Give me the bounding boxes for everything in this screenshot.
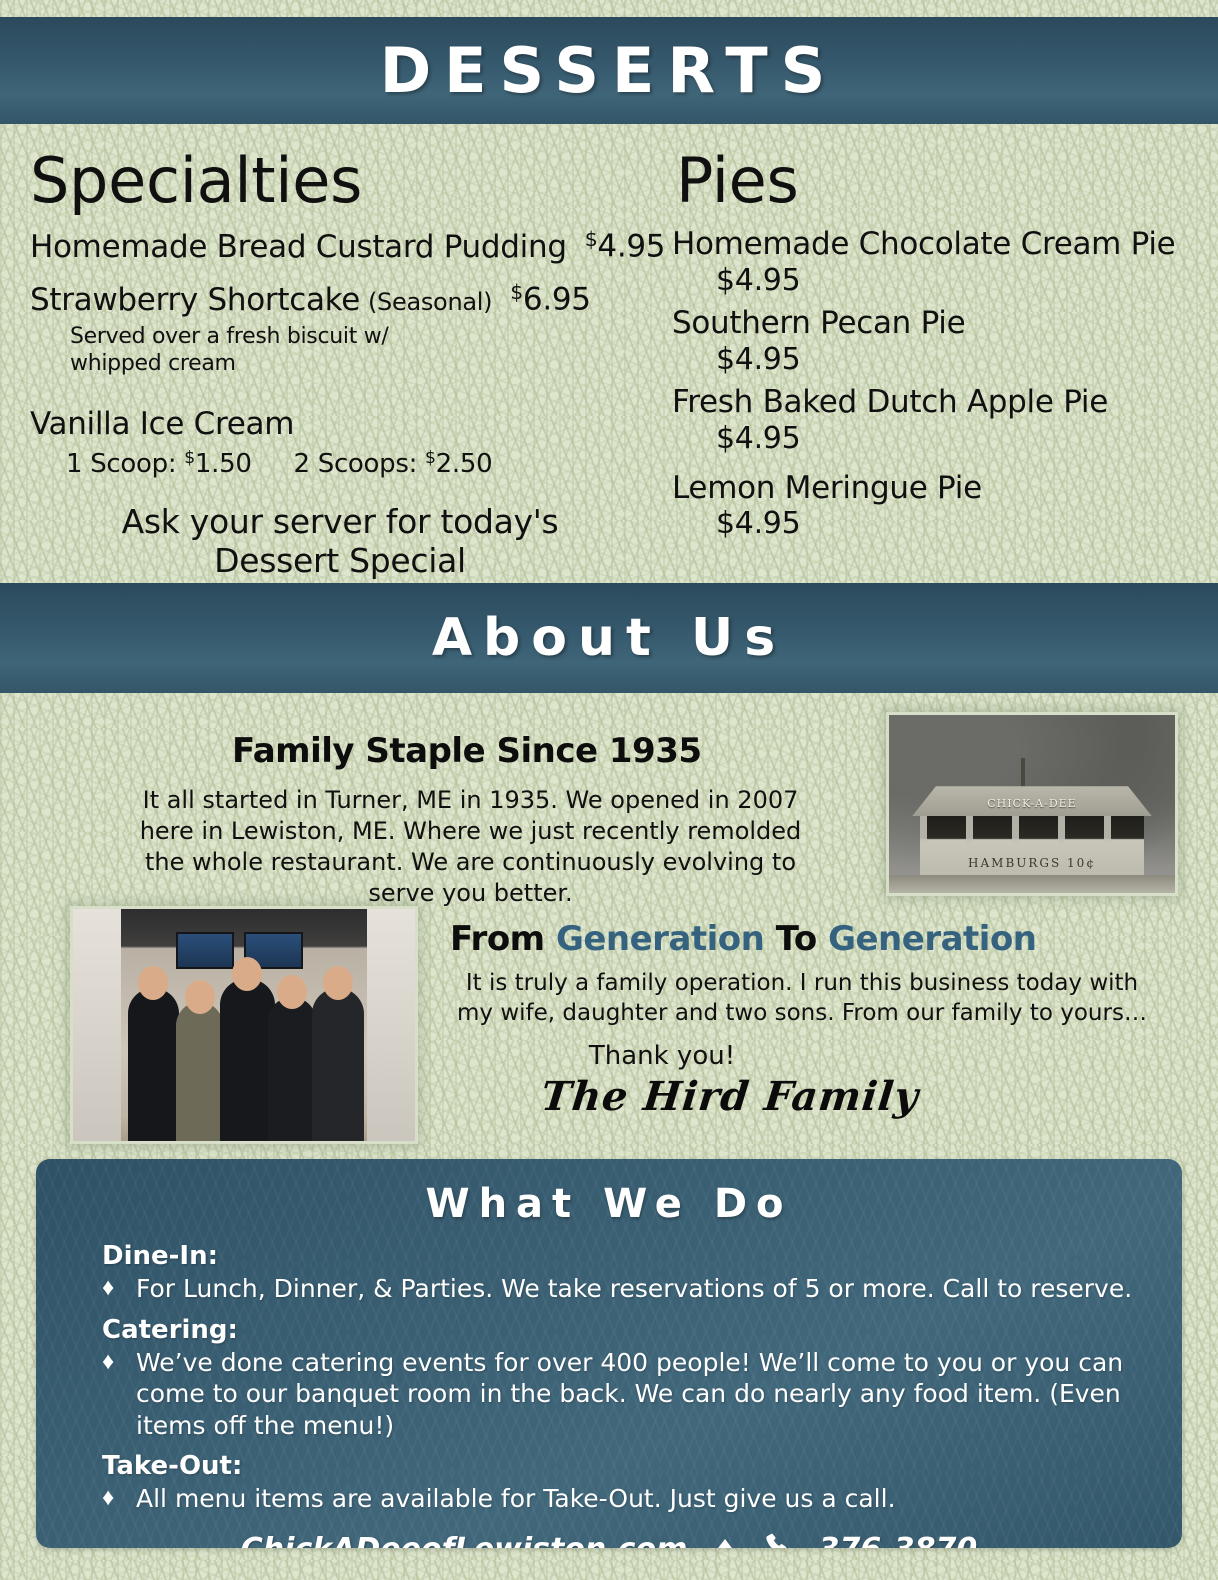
currency-symbol: $ xyxy=(585,227,598,251)
what-we-do-content: What We Do Dine-In: ♦ For Lunch, Dinner,… xyxy=(36,1181,1182,1548)
currency-symbol: $ xyxy=(184,448,195,468)
photo-posts xyxy=(920,816,1143,843)
photo-television xyxy=(176,932,235,968)
photo-sign-text: CHICK-A-DEE xyxy=(889,797,1175,810)
currency-symbol: $ xyxy=(425,448,436,468)
generation-heading-to: To xyxy=(764,919,828,959)
diamond-bullet-icon: ♦ xyxy=(102,1273,136,1302)
menu-item-price: $4.95 xyxy=(716,421,1212,456)
diamond-bullet-icon: ♦ xyxy=(102,1347,136,1376)
phone-icon xyxy=(763,1531,793,1549)
price-value: 6.95 xyxy=(523,282,591,318)
menu-item-name: Homemade Chocolate Cream Pie xyxy=(672,226,1212,263)
take-out-text: All menu items are available for Take-Ou… xyxy=(136,1483,896,1515)
menu-item-strawberry-shortcake: Strawberry Shortcake (Seasonal) $6.95 xyxy=(30,279,670,320)
price-value: 2.50 xyxy=(436,449,493,479)
menu-item-southern-pecan-pie: Southern Pecan Pie $4.95 xyxy=(672,305,1212,377)
desserts-banner-title: DESSERTS xyxy=(380,34,839,107)
menu-item-name: Strawberry Shortcake xyxy=(30,280,360,320)
pies-column: Pies Homemade Chocolate Cream Pie $4.95 … xyxy=(672,150,1212,549)
photo-wall-right xyxy=(367,909,415,1141)
historic-restaurant-photo: CHICK-A-DEE HAMBURGS 10¢ xyxy=(886,712,1178,896)
menu-item-seasonal-tag: (Seasonal) xyxy=(368,287,492,318)
footer-contact: ChickADeeofLewiston.com ♦ 376-3870 xyxy=(36,1531,1182,1549)
menu-item-price: $4.95 xyxy=(716,263,1212,298)
dine-in-label: Dine-In: xyxy=(102,1241,1182,1271)
family-signature: The Hird Family xyxy=(498,1073,963,1120)
pies-heading: Pies xyxy=(676,150,1212,212)
desserts-banner: DESSERTS xyxy=(0,17,1218,124)
family-staple-heading: Family Staple Since 1935 xyxy=(232,731,702,771)
family-photo xyxy=(70,906,418,1144)
menu-item-price: $4.95 xyxy=(716,342,1212,377)
about-us-section: CHICK-A-DEE HAMBURGS 10¢ Family Staple S… xyxy=(0,693,1218,1155)
menu-item-name: Lemon Meringue Pie xyxy=(672,470,1212,507)
specialties-column: Specialties Homemade Bread Custard Puddi… xyxy=(30,150,670,581)
menu-item-vanilla-ice-cream: Vanilla Ice Cream xyxy=(30,404,670,444)
dessert-special-callout: Ask your server for today's Dessert Spec… xyxy=(40,503,640,581)
photo-person-head xyxy=(323,966,353,1000)
menu-item-name: Fresh Baked Dutch Apple Pie xyxy=(672,384,1212,421)
menu-item-name: Vanilla Ice Cream xyxy=(30,404,294,444)
price-value: 4.95 xyxy=(597,229,665,265)
website-link[interactable]: ChickADeeofLewiston.com xyxy=(241,1532,688,1548)
photo-person xyxy=(176,1002,224,1141)
what-we-do-panel: What We Do Dine-In: ♦ For Lunch, Dinner,… xyxy=(36,1159,1182,1548)
menu-item-price: $4.95 xyxy=(585,226,666,267)
photo-price-text: HAMBURGS 10¢ xyxy=(889,856,1175,870)
family-staple-paragraph: It all started in Turner, ME in 1935. We… xyxy=(118,785,823,909)
two-scoops-price: $2.50 xyxy=(425,449,492,479)
catering-text: We’ve done catering events for over 400 … xyxy=(136,1347,1136,1442)
catering-item: ♦ We’ve done catering events for over 40… xyxy=(102,1347,1182,1442)
photo-person xyxy=(128,988,179,1141)
two-scoops-label: 2 Scoops: xyxy=(294,449,418,479)
menu-item-name: Homemade Bread Custard Pudding xyxy=(30,227,567,267)
one-scoop-label: 1 Scoop: xyxy=(66,449,176,479)
spacer xyxy=(30,267,670,279)
photo-person xyxy=(312,988,363,1141)
menu-item-price: $6.95 xyxy=(510,279,591,320)
dine-in-text: For Lunch, Dinner, & Parties. We take re… xyxy=(136,1273,1132,1305)
menu-item-price: $4.95 xyxy=(716,506,1212,541)
specialties-heading: Specialties xyxy=(30,150,670,212)
photo-person-head xyxy=(138,966,168,1000)
generation-heading-word-2: Generation xyxy=(828,919,1036,959)
dessert-special-line-1: Ask your server for today's xyxy=(40,503,640,542)
phone-number[interactable]: 376-3870 xyxy=(819,1532,978,1548)
about-us-banner-title: About Us xyxy=(432,608,786,668)
photo-ground xyxy=(889,875,1175,893)
diamond-separator-icon: ♦ xyxy=(713,1535,736,1549)
desserts-menu-area: Specialties Homemade Bread Custard Puddi… xyxy=(0,124,1218,583)
one-scoop-price: $1.50 xyxy=(184,449,251,479)
menu-item-dutch-apple-pie: Fresh Baked Dutch Apple Pie $4.95 xyxy=(672,384,1212,456)
currency-symbol: $ xyxy=(510,280,523,304)
generation-paragraph: It is truly a family operation. I run th… xyxy=(452,969,1152,1029)
menu-item-chocolate-cream-pie: Homemade Chocolate Cream Pie $4.95 xyxy=(672,226,1212,298)
photo-person-head xyxy=(185,980,215,1014)
photo-person xyxy=(220,979,275,1141)
generation-heading-from: From xyxy=(450,919,556,959)
photo-wall-left xyxy=(73,909,121,1141)
generation-heading-word-1: Generation xyxy=(556,919,764,959)
menu-item-lemon-meringue-pie: Lemon Meringue Pie $4.95 xyxy=(672,470,1212,542)
menu-item-bread-custard-pudding: Homemade Bread Custard Pudding $4.95 xyxy=(30,226,670,267)
menu-item-name: Southern Pecan Pie xyxy=(672,305,1212,342)
catering-label: Catering: xyxy=(102,1315,1182,1345)
menu-item-description: Served over a fresh biscuit w/ whipped c… xyxy=(70,324,470,378)
spacer xyxy=(30,378,670,404)
take-out-item: ♦ All menu items are available for Take-… xyxy=(102,1483,1182,1515)
generation-heading: From Generation To Generation xyxy=(450,919,1037,959)
photo-person xyxy=(268,997,316,1141)
photo-person-head xyxy=(277,975,307,1009)
diamond-bullet-icon: ♦ xyxy=(102,1483,136,1512)
about-us-banner: About Us xyxy=(0,583,1218,693)
what-we-do-title: What We Do xyxy=(36,1181,1182,1227)
take-out-label: Take-Out: xyxy=(102,1451,1182,1481)
price-value: 1.50 xyxy=(195,449,252,479)
dine-in-item: ♦ For Lunch, Dinner, & Parties. We take … xyxy=(102,1273,1182,1305)
thank-you-text: Thank you! xyxy=(452,1041,872,1071)
dessert-special-line-2: Dessert Special xyxy=(40,542,640,581)
photo-person-head xyxy=(232,957,262,991)
photo-pole xyxy=(1021,758,1025,790)
ice-cream-scoop-prices: 1 Scoop: $1.50 2 Scoops: $2.50 xyxy=(66,448,670,479)
